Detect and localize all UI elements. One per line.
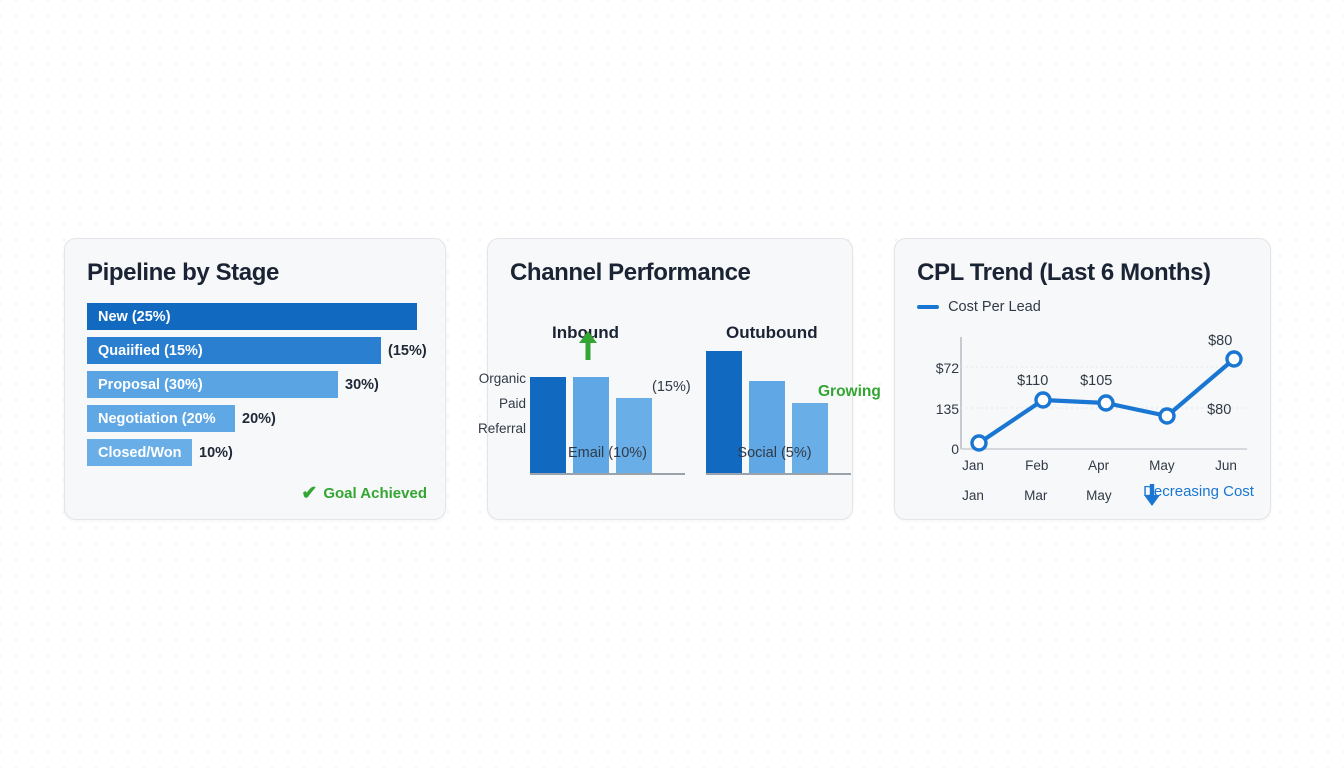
cpl-point — [1099, 396, 1113, 410]
cpl-point — [1227, 352, 1241, 366]
channel-category-label: Referral — [478, 416, 526, 441]
x-tick-label: Apr — [1088, 458, 1109, 473]
channel-axis-caption: Email (10%) — [530, 445, 685, 461]
pipeline-bar-value: 20%) — [242, 411, 276, 427]
pipeline-bar-value: 30%) — [345, 377, 379, 393]
x-tick-label-secondary: Mar — [1024, 488, 1047, 503]
cpl-line-chart: $72 135 0 $110 $105 $80 $80 Jan Feb Apr … — [917, 319, 1248, 499]
pipeline-bar-row[interactable]: Closed/Won 10%) — [87, 439, 423, 466]
card-channel-performance: Channel Performance Inbound Organic Paid… — [487, 238, 853, 520]
arrow-down-icon — [1143, 483, 1161, 507]
pipeline-bar-fill: Negotiation (20% — [87, 405, 235, 432]
channel-axis-caption: Social (5%) — [702, 445, 847, 461]
pipeline-bar-row[interactable]: Quaiified (15%) (15%) — [87, 337, 423, 364]
y-tick-label: 0 — [913, 441, 959, 457]
pipeline-bar-value: 10%) — [199, 445, 233, 461]
legend-label: Cost Per Lead — [948, 299, 1041, 315]
channel-group-title: Outubound — [726, 323, 818, 343]
pipeline-bar-label: Closed/Won — [87, 445, 182, 461]
cpl-top-label: $80 — [1208, 333, 1232, 349]
pipeline-bar-label: Quaiified (15%) — [87, 343, 203, 359]
channel-group-outbound: Outubound Growing Social (5%) — [706, 353, 851, 475]
pipeline-bar-label: Negotiation (20% — [87, 411, 216, 427]
pipeline-bar-fill: New (25%) — [87, 303, 417, 330]
pipeline-bar-fill: Quaiified (15%) — [87, 337, 381, 364]
x-tick-label: May — [1149, 458, 1175, 473]
goal-achieved-label: Goal Achieved — [323, 485, 427, 502]
channel-category-label: Organic — [478, 366, 526, 391]
x-tick-label-secondary: Jan — [962, 488, 984, 503]
cpl-point — [1036, 393, 1050, 407]
channel-note-inbound: (15%) — [652, 379, 691, 395]
check-icon: ✔ — [301, 484, 317, 503]
cpl-point — [972, 436, 986, 450]
y-tick-label: 135 — [913, 401, 959, 417]
channel-category-label: Paid — [478, 391, 526, 416]
pipeline-bar-row[interactable]: New (25%) — [87, 303, 423, 330]
card-cpl-trend: CPL Trend (Last 6 Months) Cost Per Lead — [894, 238, 1271, 520]
status-badge: ✔ Goal Achieved — [301, 484, 427, 503]
pipeline-bar-row[interactable]: Negotiation (20% 20%) — [87, 405, 423, 432]
pipeline-bar-fill: Closed/Won — [87, 439, 192, 466]
page-title: CPL Trend (Last 6 Months) — [917, 259, 1248, 287]
channel-chart: Inbound Organic Paid Referral (15%) — [510, 303, 830, 515]
dashboard-root: Pipeline by Stage New (25%) Quaiified (1… — [64, 238, 1271, 520]
pipeline-bar-label: Proposal (30%) — [87, 377, 203, 393]
cpl-point — [1160, 409, 1174, 423]
card-pipeline-by-stage: Pipeline by Stage New (25%) Quaiified (1… — [64, 238, 446, 520]
arrow-up-icon — [578, 331, 598, 361]
page-title: Channel Performance — [510, 259, 830, 287]
y-tick-label: $72 — [913, 360, 959, 376]
growing-badge: Growing — [818, 383, 881, 401]
x-tick-label: Jun — [1215, 458, 1237, 473]
cpl-point-label: $80 — [1207, 402, 1231, 418]
pipeline-bar-value: (15%) — [388, 343, 427, 359]
pipeline-bar-row[interactable]: Proposal (30%) 30%) — [87, 371, 423, 398]
cpl-legend[interactable]: Cost Per Lead — [917, 299, 1248, 315]
cpl-point-label: $105 — [1080, 373, 1112, 389]
cpl-point-label: $110 — [1017, 373, 1048, 389]
channel-category-legend: Organic Paid Referral — [478, 366, 526, 441]
channel-bar[interactable] — [792, 403, 828, 473]
channel-bar[interactable] — [616, 398, 652, 473]
x-tick-label: Jan — [962, 458, 984, 473]
x-tick-label: Feb — [1025, 458, 1048, 473]
pipeline-bar-label: New (25%) — [87, 309, 171, 325]
x-tick-label-secondary: May — [1086, 488, 1112, 503]
channel-group-inbound: Inbound Organic Paid Referral (15%) — [530, 353, 685, 475]
decreasing-cost-annotation: Decreasing Cost — [1143, 483, 1254, 500]
legend-line-icon — [917, 305, 939, 309]
pipeline-bar-list: New (25%) Quaiified (15%) (15%) Proposal… — [87, 303, 423, 466]
page-title: Pipeline by Stage — [87, 259, 423, 287]
pipeline-bar-fill: Proposal (30%) — [87, 371, 338, 398]
